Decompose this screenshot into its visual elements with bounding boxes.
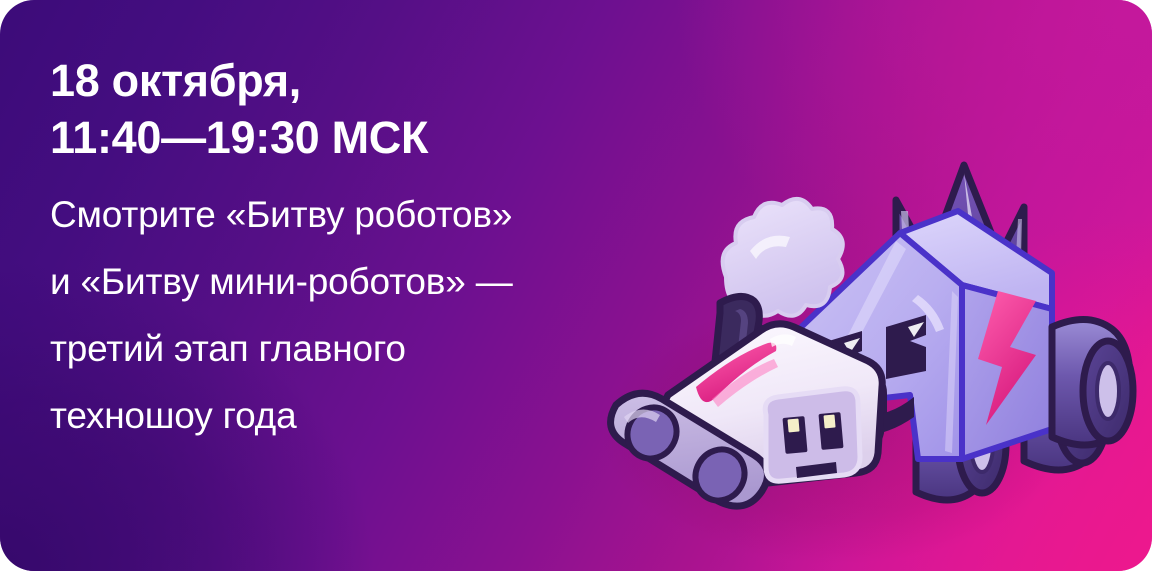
mini-robot-tracked <box>611 199 883 510</box>
mini-robot-face <box>765 389 860 481</box>
wheel-front-right <box>1052 319 1133 445</box>
promo-banner: 18 октября, 11:40—19:30 МСК Смотрите «Би… <box>0 0 1152 571</box>
robots-illustration <box>600 95 1152 515</box>
